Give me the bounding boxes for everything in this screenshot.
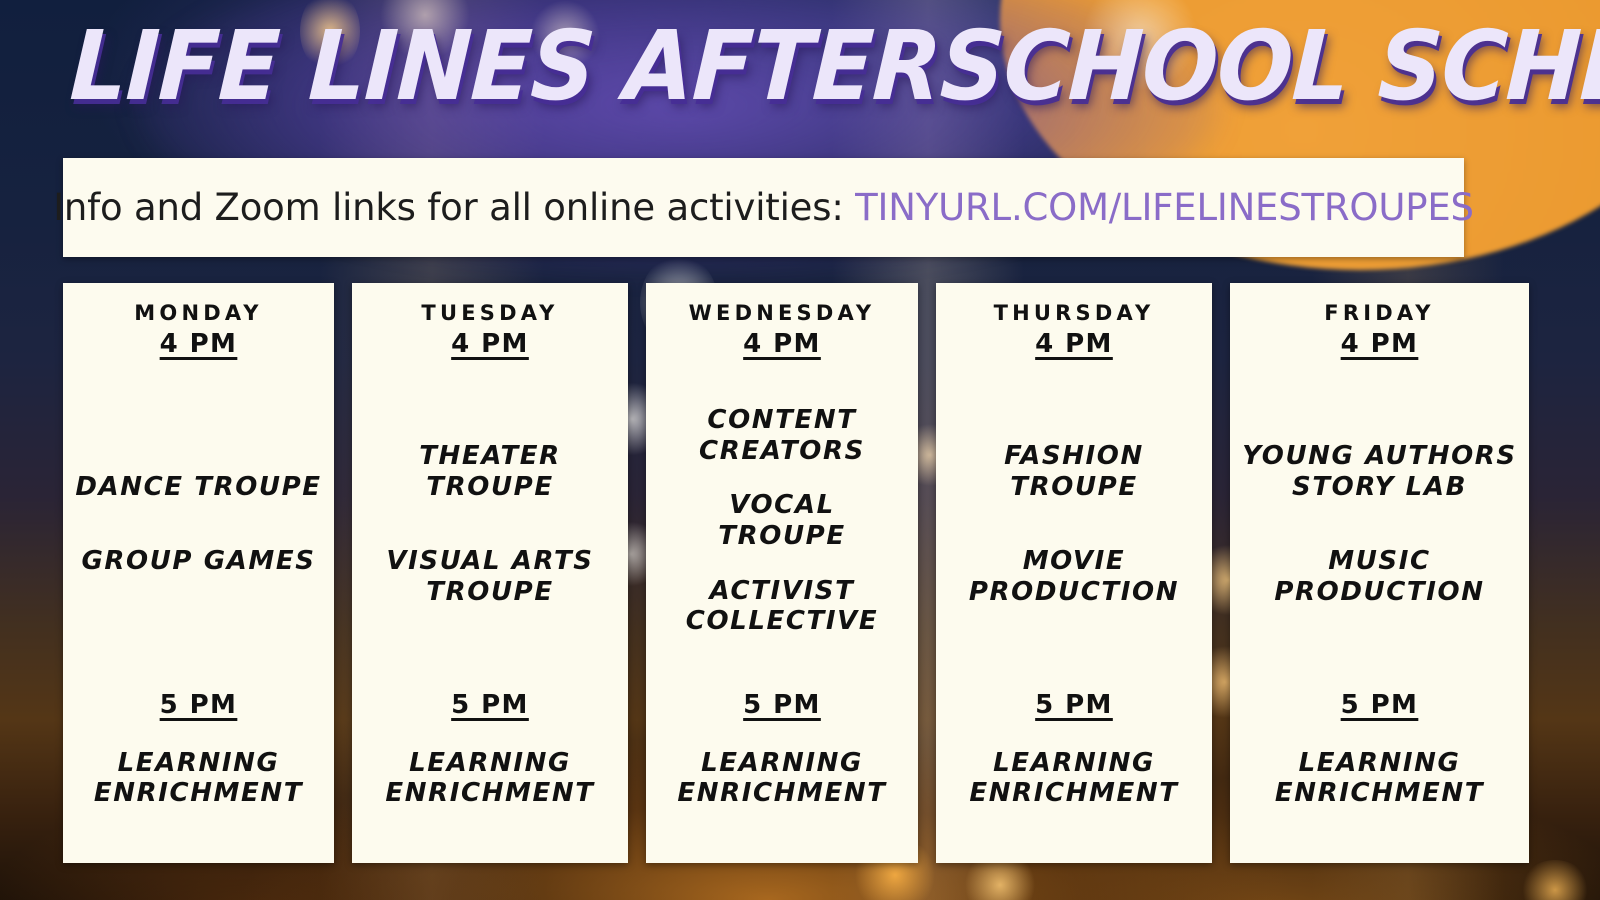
closing-activity: LEARNING ENRICHMENT [677, 748, 886, 809]
time-slot-second: 5 PM [1341, 690, 1419, 720]
time-slot-second: 5 PM [743, 690, 821, 720]
day-label: WEDNESDAY [689, 301, 876, 325]
time-slot-first: 4 PM [1341, 329, 1419, 359]
day-label: TUESDAY [421, 301, 558, 325]
time-slot-first: 4 PM [1035, 329, 1113, 359]
activity-item: MUSIC PRODUCTION [1274, 546, 1484, 607]
closing-activity: LEARNING ENRICHMENT [385, 748, 594, 809]
closing-activity: LEARNING ENRICHMENT [1275, 748, 1484, 809]
activity-list: CONTENT CREATORS VOCAL TROUPE ACTIVIST C… [652, 359, 912, 690]
schedule-column-monday: MONDAY 4 PM DANCE TROUPE GROUP GAMES 5 P… [63, 283, 334, 863]
activity-item: GROUP GAMES [81, 546, 315, 577]
info-url-link[interactable]: TINYURL.COM/LIFELINESTROUPES [855, 186, 1474, 229]
time-slot-second: 5 PM [451, 690, 529, 720]
activity-item: DANCE TROUPE [75, 472, 321, 503]
schedule-column-thursday: THURSDAY 4 PM FASHION TROUPE MOVIE PRODU… [936, 283, 1212, 863]
time-slot-second: 5 PM [160, 690, 238, 720]
time-slot-second: 5 PM [1035, 690, 1113, 720]
day-label: FRIDAY [1324, 301, 1434, 325]
activity-item: FASHION TROUPE [1004, 441, 1144, 502]
closing-block: 5 PM LEARNING ENRICHMENT [1236, 690, 1523, 849]
closing-activity: LEARNING ENRICHMENT [969, 748, 1178, 809]
closing-block: 5 PM LEARNING ENRICHMENT [69, 690, 328, 849]
schedule-column-tuesday: TUESDAY 4 PM THEATER TROUPE VISUAL ARTS … [352, 283, 628, 863]
day-label: THURSDAY [994, 301, 1155, 325]
time-slot-first: 4 PM [451, 329, 529, 359]
poster-title: LIFE LINES AFTERSCHOOL SCHEDULE! [68, 18, 1600, 116]
activity-list: FASHION TROUPE MOVIE PRODUCTION [942, 359, 1206, 690]
closing-block: 5 PM LEARNING ENRICHMENT [942, 690, 1206, 849]
activity-item: CONTENT CREATORS [699, 405, 865, 466]
closing-activity: LEARNING ENRICHMENT [94, 748, 303, 809]
activity-item: ACTIVIST COLLECTIVE [686, 576, 878, 637]
activity-item: THEATER TROUPE [419, 441, 561, 502]
activity-list: DANCE TROUPE GROUP GAMES [69, 359, 328, 690]
activity-item: YOUNG AUTHORS STORY LAB [1242, 441, 1516, 502]
activity-item: MOVIE PRODUCTION [969, 546, 1179, 607]
schedule-grid: MONDAY 4 PM DANCE TROUPE GROUP GAMES 5 P… [63, 283, 1493, 863]
activity-item: VOCAL TROUPE [718, 490, 845, 551]
closing-block: 5 PM LEARNING ENRICHMENT [358, 690, 622, 849]
schedule-column-friday: FRIDAY 4 PM YOUNG AUTHORS STORY LAB MUSI… [1230, 283, 1529, 863]
activity-list: YOUNG AUTHORS STORY LAB MUSIC PRODUCTION [1236, 359, 1523, 690]
activity-item: VISUAL ARTS TROUPE [386, 546, 593, 607]
closing-block: 5 PM LEARNING ENRICHMENT [652, 690, 912, 849]
time-slot-first: 4 PM [160, 329, 238, 359]
info-lead-text: Info and Zoom links for all online activ… [53, 186, 855, 229]
day-label: MONDAY [134, 301, 262, 325]
poster-title-wrap: LIFE LINES AFTERSCHOOL SCHEDULE! [0, 18, 1600, 116]
activity-list: THEATER TROUPE VISUAL ARTS TROUPE [358, 359, 622, 690]
info-bar: Info and Zoom links for all online activ… [63, 158, 1464, 257]
schedule-column-wednesday: WEDNESDAY 4 PM CONTENT CREATORS VOCAL TR… [646, 283, 918, 863]
info-text: Info and Zoom links for all online activ… [53, 186, 1474, 229]
time-slot-first: 4 PM [743, 329, 821, 359]
schedule-poster: LIFE LINES AFTERSCHOOL SCHEDULE! Info an… [0, 0, 1600, 900]
